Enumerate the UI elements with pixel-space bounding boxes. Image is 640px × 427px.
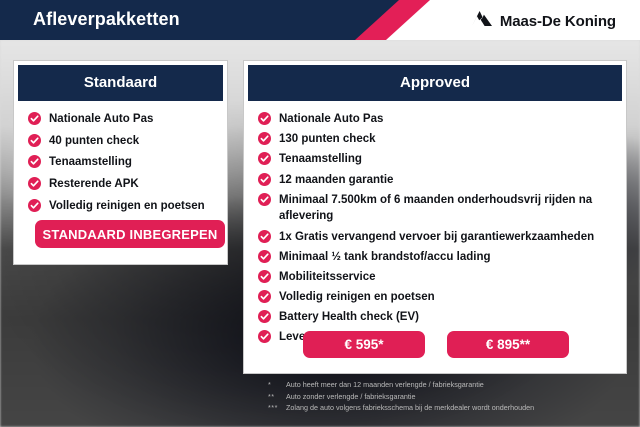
package-card-standaard: Standaard Nationale Auto Pas 40 punten c… <box>13 60 228 265</box>
feature-label: Nationale Auto Pas <box>279 111 383 128</box>
check-circle-icon <box>258 310 271 323</box>
card-body-standaard: Nationale Auto Pas 40 punten check Tenaa… <box>14 101 227 214</box>
footnote-1: * Auto heeft meer dan 12 maanden verleng… <box>268 379 628 391</box>
feature-label: Minimaal 7.500km of 6 maanden onderhouds… <box>279 192 614 225</box>
check-circle-icon <box>258 173 271 186</box>
check-circle-icon <box>28 155 41 168</box>
footnote-marker: * <box>268 379 281 391</box>
feature-list-approved: Nationale Auto Pas 130 punten check Tena… <box>258 111 614 346</box>
feature-label: Tenaamstelling <box>279 151 362 168</box>
feature-label: 130 punten check <box>279 131 376 148</box>
promo-panel: Afleverpakketten Maas-De Koning Standaar… <box>0 0 640 427</box>
feature-label: 40 punten check <box>49 133 139 150</box>
check-circle-icon <box>28 199 41 212</box>
check-circle-icon <box>258 230 271 243</box>
card-title-standaard: Standaard <box>18 65 223 101</box>
list-item: Minimaal ½ tank brandstof/accu lading <box>258 249 614 266</box>
list-item: Battery Health check (EV) <box>258 309 614 326</box>
list-item: Nationale Auto Pas <box>258 111 614 128</box>
list-item: Volledig reinigen en poetsen <box>28 198 215 215</box>
footnote-text: Zolang de auto volgens fabrieksschema bi… <box>286 402 534 414</box>
list-item: Mobiliteitsservice <box>258 269 614 286</box>
feature-label: Resterende APK <box>49 176 139 193</box>
list-item: 12 maanden garantie <box>258 172 614 189</box>
list-item: Nationale Auto Pas <box>28 111 215 128</box>
page-header: Afleverpakketten Maas-De Koning <box>0 0 640 40</box>
card-body-approved: Nationale Auto Pas 130 punten check Tena… <box>244 101 626 346</box>
feature-label: Tenaamstelling <box>49 154 132 171</box>
feature-label: Nationale Auto Pas <box>49 111 153 128</box>
footnote-2: ** Auto zonder verlengde / fabrieksgaran… <box>268 391 628 403</box>
price-button-895[interactable]: € 895** <box>447 331 569 358</box>
check-circle-icon <box>258 193 271 206</box>
price-button-595[interactable]: € 595* <box>303 331 425 358</box>
footnote-text: Auto zonder verlengde / fabrieksgarantie <box>286 391 415 403</box>
feature-label: Volledig reinigen en poetsen <box>279 289 435 306</box>
footnote-3: *** Zolang de auto volgens fabrieksschem… <box>268 402 628 414</box>
brand-logo: Maas-De Koning <box>471 10 616 32</box>
feature-list-standaard: Nationale Auto Pas 40 punten check Tenaa… <box>28 111 215 214</box>
price-button-row: € 595* € 895** <box>244 331 628 358</box>
feature-label: Mobiliteitsservice <box>279 269 376 286</box>
footnotes: * Auto heeft meer dan 12 maanden verleng… <box>268 379 628 414</box>
footnote-marker: *** <box>268 402 281 414</box>
check-circle-icon <box>28 112 41 125</box>
footnote-text: Auto heeft meer dan 12 maanden verlengde… <box>286 379 484 391</box>
check-circle-icon <box>258 112 271 125</box>
list-item: Tenaamstelling <box>28 154 215 171</box>
package-card-approved: Approved Nationale Auto Pas 130 punten c… <box>243 60 627 374</box>
list-item: 40 punten check <box>28 133 215 150</box>
footnote-marker: ** <box>268 391 281 403</box>
list-item: Minimaal 7.500km of 6 maanden onderhouds… <box>258 192 614 225</box>
check-circle-icon <box>258 132 271 145</box>
feature-label: Minimaal ½ tank brandstof/accu lading <box>279 249 491 266</box>
check-circle-icon <box>28 134 41 147</box>
card-title-approved: Approved <box>248 65 622 101</box>
check-circle-icon <box>258 250 271 263</box>
standaard-included-button[interactable]: STANDAARD INBEGREPEN <box>35 220 225 248</box>
feature-label: 12 maanden garantie <box>279 172 393 189</box>
check-circle-icon <box>258 270 271 283</box>
list-item: Tenaamstelling <box>258 151 614 168</box>
check-circle-icon <box>258 290 271 303</box>
list-item: 1x Gratis vervangend vervoer bij garanti… <box>258 229 614 246</box>
feature-label: Volledig reinigen en poetsen <box>49 198 205 215</box>
page-title: Afleverpakketten <box>33 9 180 30</box>
list-item: Resterende APK <box>28 176 215 193</box>
feature-label: Battery Health check (EV) <box>279 309 419 326</box>
check-circle-icon <box>28 177 41 190</box>
feature-label: 1x Gratis vervangend vervoer bij garanti… <box>279 229 594 246</box>
check-circle-icon <box>258 152 271 165</box>
brand-name: Maas-De Koning <box>500 13 616 30</box>
list-item: 130 punten check <box>258 131 614 148</box>
list-item: Volledig reinigen en poetsen <box>258 289 614 306</box>
maas-de-koning-m-logo-icon <box>471 10 493 32</box>
